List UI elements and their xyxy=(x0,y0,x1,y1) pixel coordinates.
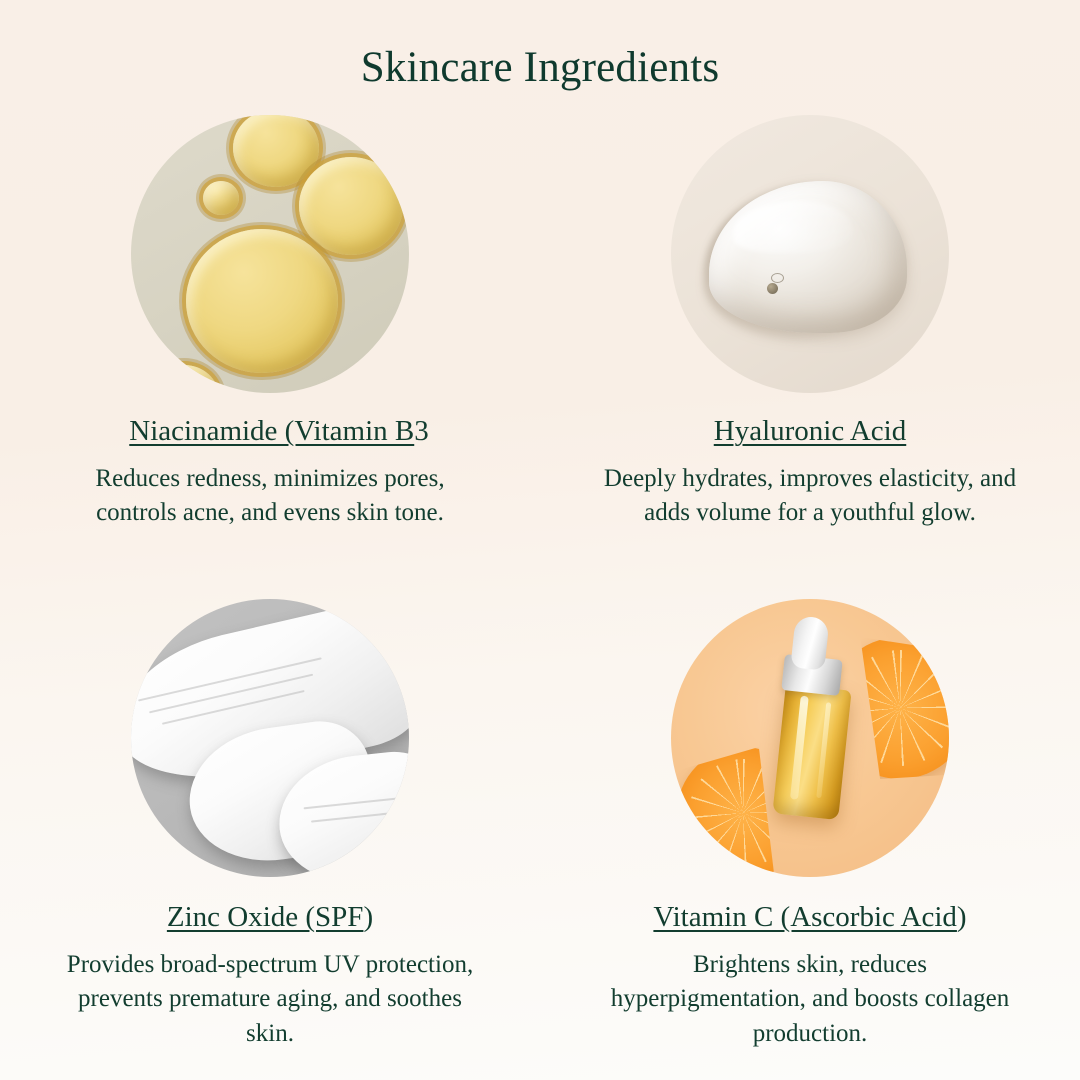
hyaluronic-gel-photo xyxy=(671,115,949,393)
gel-bubble xyxy=(767,283,778,294)
ingredient-card-zinc-oxide: Zinc Oxide (SPF) Provides broad-spectrum… xyxy=(0,592,540,1080)
ingredient-card-vitamin-c: Vitamin C (Ascorbic Acid) Brightens skin… xyxy=(540,592,1080,1080)
oil-droplets-media xyxy=(131,115,409,393)
dropper-teat xyxy=(790,615,829,670)
ingredient-description: Brightens skin, reduces hyperpigmentatio… xyxy=(610,948,1010,1052)
ingredient-card-niacinamide: Niacinamide (Vitamin B3 Reduces redness,… xyxy=(0,108,540,592)
ingredient-heading-tail: 3 xyxy=(414,415,429,447)
ingredient-description: Provides broad-spectrum UV protection, p… xyxy=(60,948,480,1052)
ingredient-heading-tail: ) xyxy=(363,901,373,933)
serum-bottle xyxy=(772,684,851,820)
ingredient-description: Deeply hydrates, improves elasticity, an… xyxy=(603,462,1017,531)
ingredient-description: Reduces redness, minimizes pores, contro… xyxy=(70,462,470,531)
ingredient-heading: Hyaluronic Acid xyxy=(704,415,916,449)
ingredient-heading-main: Vitamin C (Ascorbic Acid xyxy=(653,901,957,933)
zinc-cream-photo xyxy=(131,599,409,877)
ingredient-heading-tail: ) xyxy=(957,901,967,933)
ingredient-heading-main: Niacinamide (Vitamin B xyxy=(129,415,414,447)
oil-droplets-photo xyxy=(131,115,409,393)
hyaluronic-gel-media xyxy=(671,115,949,393)
page-title: Skincare Ingredients xyxy=(0,0,1080,91)
oil-drop xyxy=(203,181,239,215)
ingredient-grid: Niacinamide (Vitamin B3 Reduces redness,… xyxy=(0,108,1080,1080)
oil-drop xyxy=(299,157,403,255)
ingredient-heading: Vitamin C (Ascorbic Acid) xyxy=(643,901,976,935)
ingredient-heading: Niacinamide (Vitamin B3 xyxy=(119,415,438,449)
ingredient-heading-main: Zinc Oxide (SPF xyxy=(167,901,364,933)
zinc-cream-media xyxy=(131,599,409,877)
ingredient-heading-main: Hyaluronic Acid xyxy=(714,415,906,447)
oil-drop xyxy=(186,229,338,373)
ingredient-heading: Zinc Oxide (SPF) xyxy=(157,901,383,935)
ingredient-card-hyaluronic-acid: Hyaluronic Acid Deeply hydrates, improve… xyxy=(540,108,1080,592)
vitamin-c-serum-media xyxy=(671,599,949,877)
gel-bubble-ring xyxy=(771,273,784,283)
vitamin-c-serum-photo xyxy=(671,599,949,877)
